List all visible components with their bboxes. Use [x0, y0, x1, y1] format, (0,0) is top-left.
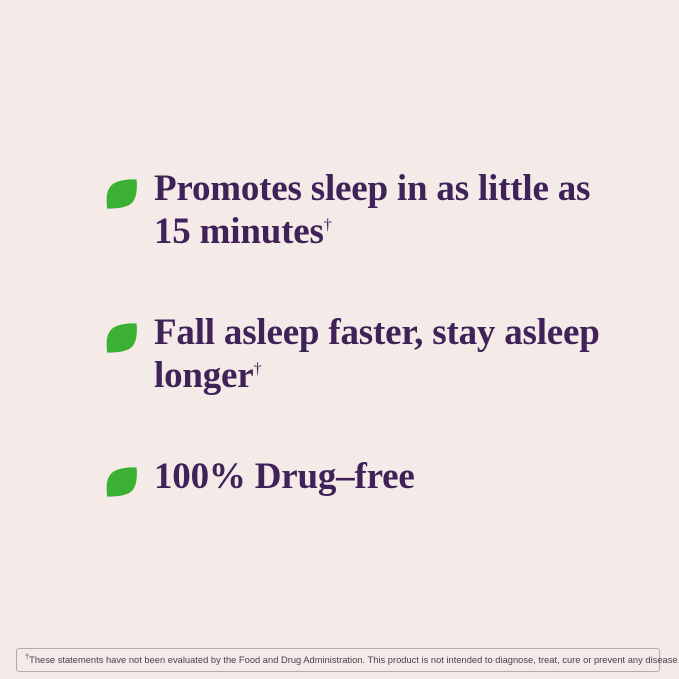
benefit-text-3: 100% Drug–free: [154, 456, 415, 497]
footnote-body: These statements have not been evaluated…: [29, 655, 679, 665]
benefit-label: 100% Drug–free: [154, 456, 415, 499]
benefit-footnote-marker-1: †: [324, 215, 332, 234]
benefit-label: Promotes sleep in as little as 15 minute…: [154, 168, 614, 254]
leaf-icon: [105, 177, 139, 211]
benefit-footnote-marker-2: †: [254, 358, 262, 377]
leaf-icon: [105, 321, 139, 355]
benefit-label: Fall asleep faster, stay asleep longer†: [154, 312, 614, 398]
product-benefits-panel: Promotes sleep in as little as 15 minute…: [0, 0, 679, 679]
footnote-disclaimer-text: †These statements have not been evaluate…: [25, 655, 679, 665]
leaf-icon: [105, 465, 139, 499]
footnote-disclaimer-box: †These statements have not been evaluate…: [16, 648, 660, 672]
benefit-text-2: Fall asleep faster, stay asleep longer: [154, 312, 600, 396]
benefit-item: 100% Drug–free: [105, 456, 625, 499]
benefits-list: Promotes sleep in as little as 15 minute…: [105, 168, 625, 499]
benefit-item: Fall asleep faster, stay asleep longer†: [105, 312, 625, 398]
benefit-item: Promotes sleep in as little as 15 minute…: [105, 168, 625, 254]
benefit-text-1: Promotes sleep in as little as 15 minute…: [154, 168, 590, 252]
